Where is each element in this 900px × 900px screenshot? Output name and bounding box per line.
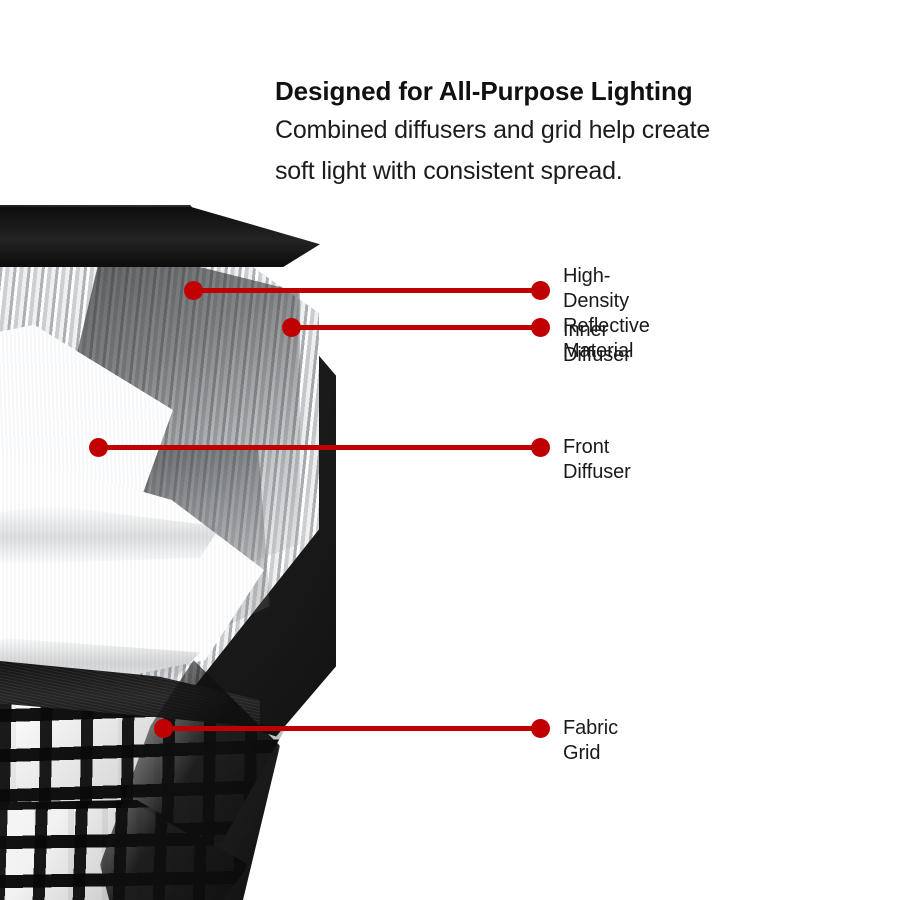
heading-block: Designed for All-Purpose Lighting Combin… — [275, 76, 855, 192]
callout-label-front-diffuser: Front Diffuser — [563, 435, 631, 485]
softbox-top-rim — [0, 207, 320, 267]
leader-line — [193, 288, 540, 293]
infographic-page: Designed for All-Purpose Lighting Combin… — [0, 0, 900, 900]
subtitle-line-2: soft light with consistent spread. — [275, 151, 855, 192]
leader-dot-end — [531, 281, 550, 300]
leader-dot-end — [531, 719, 550, 738]
leader-dot-end — [531, 438, 550, 457]
leader-dot-start — [184, 281, 203, 300]
leader-line — [163, 726, 540, 731]
leader-line — [98, 445, 540, 450]
leader-line — [291, 325, 540, 330]
callout-label-fabric-grid: Fabric Grid — [563, 716, 618, 766]
softbox-product-image — [0, 205, 340, 845]
subtitle-line-1: Combined diffusers and grid help create — [275, 110, 855, 151]
leader-dot-start — [154, 719, 173, 738]
leader-dot-end — [531, 318, 550, 337]
page-title: Designed for All-Purpose Lighting — [275, 76, 855, 106]
leader-dot-start — [89, 438, 108, 457]
callout-label-inner-diffuser: Inner Diffuser — [563, 318, 631, 368]
leader-dot-start — [282, 318, 301, 337]
